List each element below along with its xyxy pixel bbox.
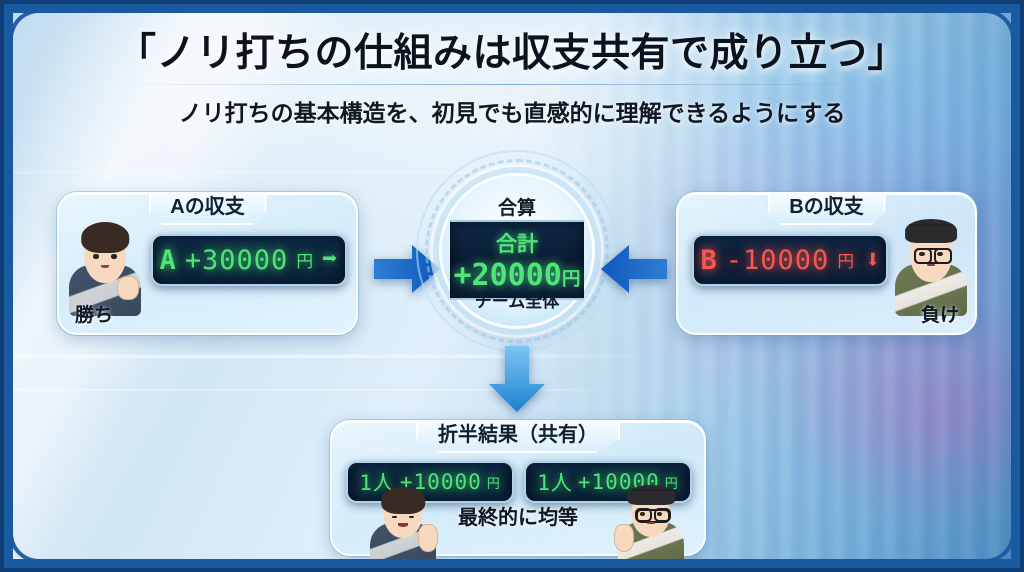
panel-split-result-foot-label: 最終的に均等	[458, 501, 578, 530]
panel-player-b: Bの収支 B -10000 円 ➡ 負け	[676, 192, 977, 335]
arrow-down-icon	[487, 346, 547, 412]
arrow-up-icon: ➡	[322, 247, 338, 273]
hub-top-label: 合算	[442, 193, 592, 220]
arrow-left-icon	[601, 243, 667, 295]
infographic-canvas: 「ノリ打ちの仕組みは収支共有で成り立つ」 ノリ打ちの基本構造を、初見でも直感的に…	[0, 0, 1024, 572]
hub-bottom-label: チーム全体	[442, 287, 592, 312]
lcd-player-a-amount: +30000	[185, 245, 289, 276]
lcd-player-a-unit: 円	[296, 248, 314, 272]
panel-player-a-foot-label: 勝ち	[75, 300, 113, 327]
page-subtitle: ノリ打ちの基本構造を、初見でも直感的に理解できるようにする	[0, 94, 1024, 128]
lcd-player-a: A +30000 円 ➡	[151, 234, 347, 286]
panel-player-b-foot-label: 負け	[921, 300, 959, 327]
lcd-split-2-person: 1人	[537, 467, 573, 497]
panel-split-result: 折半結果（共有） 1人 +10000 円 1人 +10000 円	[330, 420, 706, 556]
lcd-player-b-unit: 円	[837, 248, 855, 272]
panel-split-result-header: 折半結果（共有）	[416, 420, 620, 453]
player-a-avatar-bottom	[370, 484, 436, 566]
page-title: 「ノリ打ちの仕組みは収支共有で成り立つ」	[0, 22, 1024, 78]
panel-player-b-header: Bの収支	[767, 192, 885, 225]
thumbs-up-icon	[614, 524, 634, 552]
player-b-avatar-bottom	[618, 482, 684, 566]
panel-player-a-header: Aの収支	[148, 192, 266, 225]
arrow-down-icon: ➡	[858, 252, 884, 268]
panel-player-a: Aの収支 A +30000 円 ➡ 勝ち	[57, 192, 358, 335]
lcd-player-a-tag: A	[160, 245, 177, 276]
lcd-player-b: B -10000 円 ➡	[692, 234, 888, 286]
thumbs-up-icon	[418, 524, 438, 552]
lcd-team-total-caption: 合計	[496, 228, 538, 258]
lcd-split-1-unit: 円	[487, 473, 501, 492]
center-total-hub: 合算 合計 +20000円 チーム全体	[442, 176, 592, 326]
lcd-player-b-tag: B	[701, 245, 718, 276]
title-divider	[118, 84, 906, 85]
lcd-player-b-amount: -10000	[726, 245, 830, 276]
